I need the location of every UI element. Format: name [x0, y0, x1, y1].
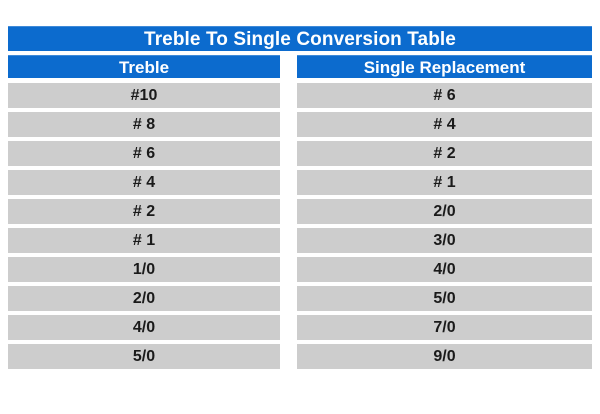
cell-treble-value: #10: [131, 88, 158, 104]
cell-treble-value: # 1: [133, 233, 155, 249]
cell-single-value: 5/0: [433, 291, 455, 307]
cell-treble-value: 1/0: [133, 262, 155, 278]
cell-single-value: 9/0: [433, 349, 455, 365]
table-row: #10 # 6: [8, 83, 592, 108]
table-body: #10 # 6 # 8 # 4 # 6 # 2: [8, 83, 592, 369]
cell-single-value: # 1: [433, 175, 455, 191]
row-column-gap: [280, 286, 297, 311]
row-column-gap: [280, 141, 297, 166]
row-column-gap: [280, 257, 297, 282]
cell-treble-value: 5/0: [133, 349, 155, 365]
cell-treble: # 2: [8, 199, 280, 224]
cell-single-value: 4/0: [433, 262, 455, 278]
cell-treble: 2/0: [8, 286, 280, 311]
cell-treble-value: 2/0: [133, 291, 155, 307]
cell-treble: 4/0: [8, 315, 280, 340]
row-column-gap: [280, 199, 297, 224]
cell-single: 3/0: [297, 228, 592, 253]
cell-single-value: 2/0: [433, 204, 455, 220]
cell-treble-value: # 6: [133, 146, 155, 162]
cell-treble: 1/0: [8, 257, 280, 282]
cell-single: # 6: [297, 83, 592, 108]
row-column-gap: [280, 170, 297, 195]
column-header-single-replacement: Single Replacement: [297, 55, 592, 78]
header-column-gap: [280, 55, 297, 78]
row-column-gap: [280, 83, 297, 108]
cell-treble: # 1: [8, 228, 280, 253]
row-column-gap: [280, 344, 297, 369]
cell-single: # 4: [297, 112, 592, 137]
table-row: 1/0 4/0: [8, 257, 592, 282]
cell-treble: 5/0: [8, 344, 280, 369]
table-title: Treble To Single Conversion Table: [144, 30, 456, 49]
cell-treble: # 6: [8, 141, 280, 166]
row-column-gap: [280, 228, 297, 253]
cell-treble-value: # 8: [133, 117, 155, 133]
table-row: # 6 # 2: [8, 141, 592, 166]
row-column-gap: [280, 315, 297, 340]
cell-single-value: 7/0: [433, 320, 455, 336]
cell-single-value: # 4: [433, 117, 455, 133]
column-header-treble-label: Treble: [119, 59, 169, 76]
table-header-row: Treble Single Replacement: [8, 55, 592, 78]
cell-treble: # 8: [8, 112, 280, 137]
cell-single: # 1: [297, 170, 592, 195]
cell-single: 7/0: [297, 315, 592, 340]
table-row: 5/0 9/0: [8, 344, 592, 369]
row-column-gap: [280, 112, 297, 137]
cell-treble: # 4: [8, 170, 280, 195]
cell-single-value: # 6: [433, 88, 455, 104]
cell-single: 4/0: [297, 257, 592, 282]
table-row: 2/0 5/0: [8, 286, 592, 311]
table-row: # 2 2/0: [8, 199, 592, 224]
cell-treble-value: # 2: [133, 204, 155, 220]
cell-single: # 2: [297, 141, 592, 166]
cell-single: 9/0: [297, 344, 592, 369]
cell-single-value: # 2: [433, 146, 455, 162]
cell-treble-value: # 4: [133, 175, 155, 191]
cell-single: 2/0: [297, 199, 592, 224]
cell-single-value: 3/0: [433, 233, 455, 249]
column-header-treble: Treble: [8, 55, 280, 78]
table-row: # 4 # 1: [8, 170, 592, 195]
cell-treble: #10: [8, 83, 280, 108]
conversion-table: Treble To Single Conversion Table Treble…: [8, 26, 592, 373]
cell-single: 5/0: [297, 286, 592, 311]
column-header-single-replacement-label: Single Replacement: [364, 59, 526, 76]
table-title-bar: Treble To Single Conversion Table: [8, 26, 592, 51]
table-row: # 8 # 4: [8, 112, 592, 137]
cell-treble-value: 4/0: [133, 320, 155, 336]
table-row: # 1 3/0: [8, 228, 592, 253]
table-row: 4/0 7/0: [8, 315, 592, 340]
